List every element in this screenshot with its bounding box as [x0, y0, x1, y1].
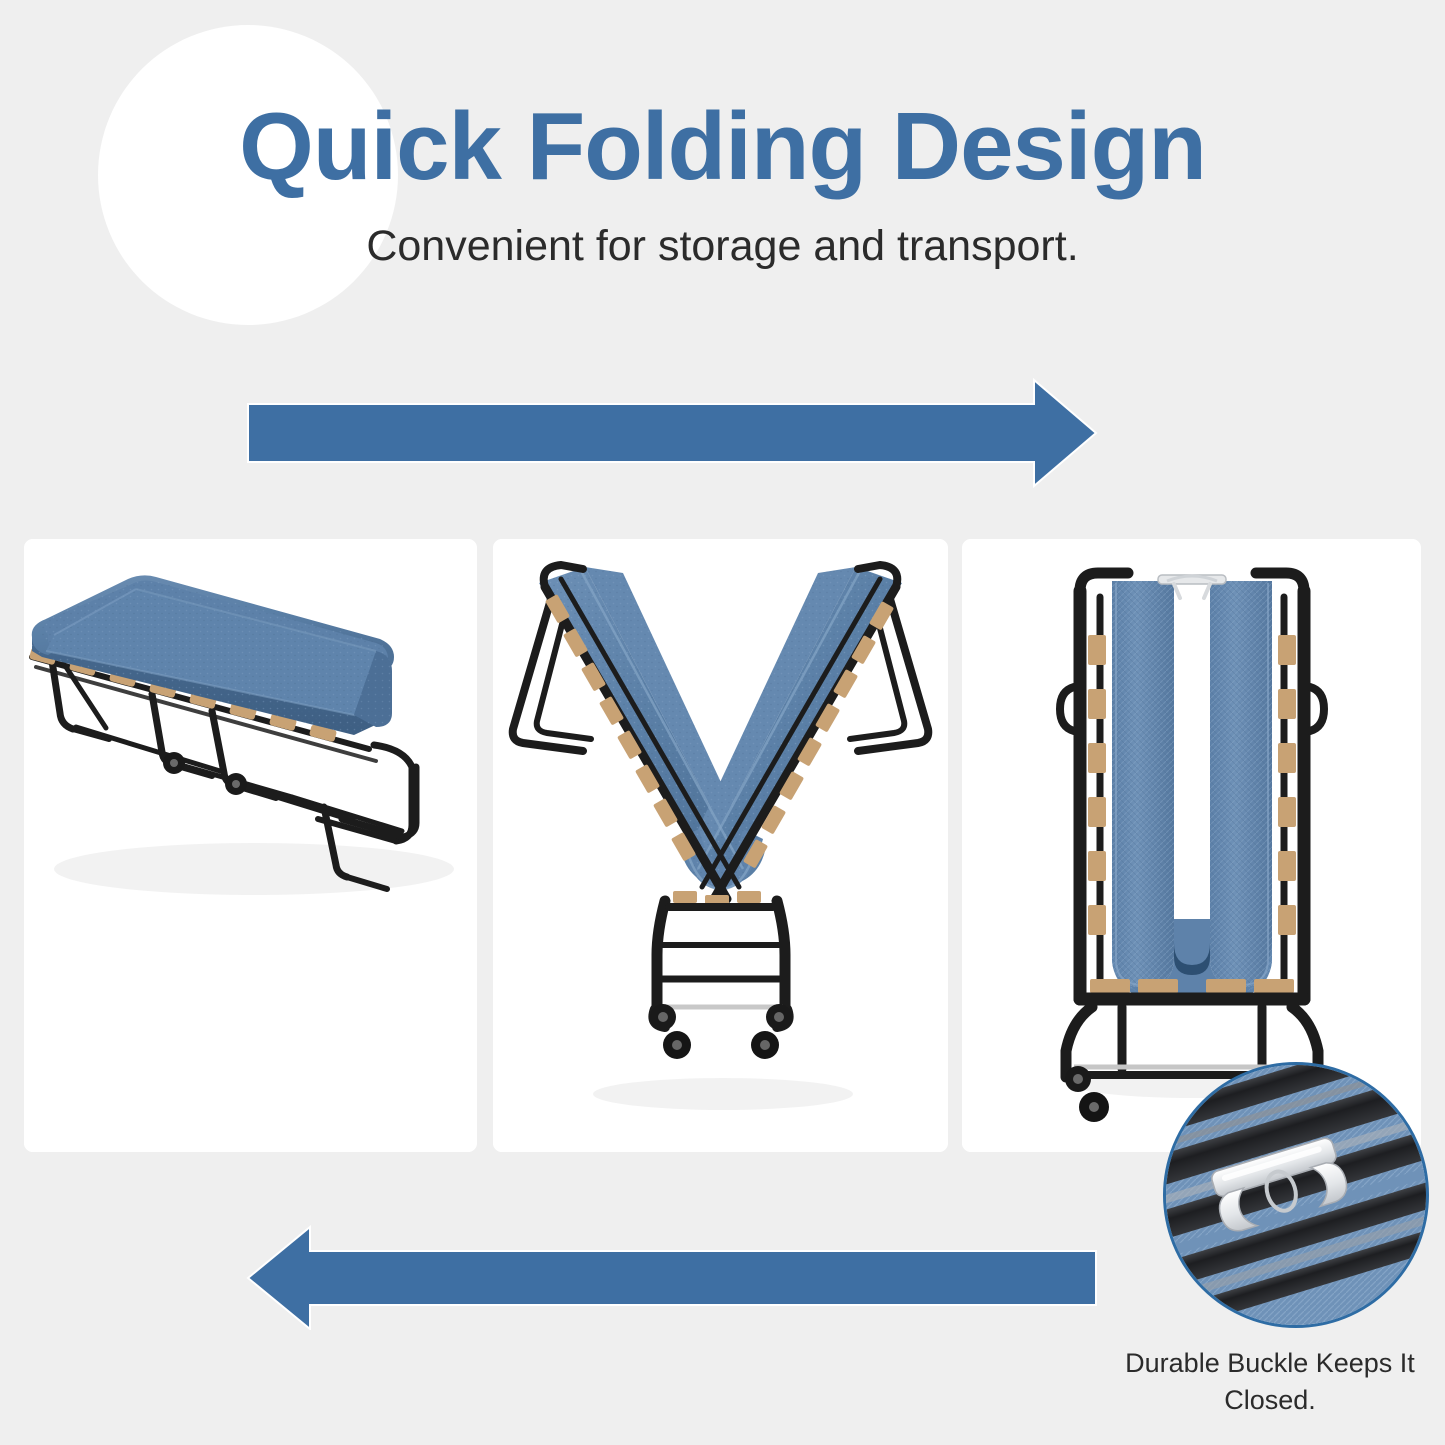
folding-bed-half-folded-photo: [493, 539, 948, 1152]
page-title: Quick Folding Design: [0, 95, 1445, 199]
panel-folded: [962, 539, 1421, 1152]
arrow-left-icon: [244, 1225, 1100, 1330]
page-subtitle: Convenient for storage and transport.: [0, 222, 1445, 271]
panel-unfolded: [24, 539, 477, 1152]
folding-bed-unfolded-photo: [24, 539, 477, 1152]
folding-bed-fully-folded-photo: [962, 539, 1421, 1152]
header-section: Quick Folding Design Convenient for stor…: [0, 0, 1445, 340]
buckle-caption: Durable Buckle Keeps It Closed.: [1105, 1345, 1435, 1420]
durable-buckle-closeup-photo: [1163, 1062, 1429, 1328]
panel-half-folded: [493, 539, 948, 1152]
arrow-right-icon: [244, 378, 1100, 488]
